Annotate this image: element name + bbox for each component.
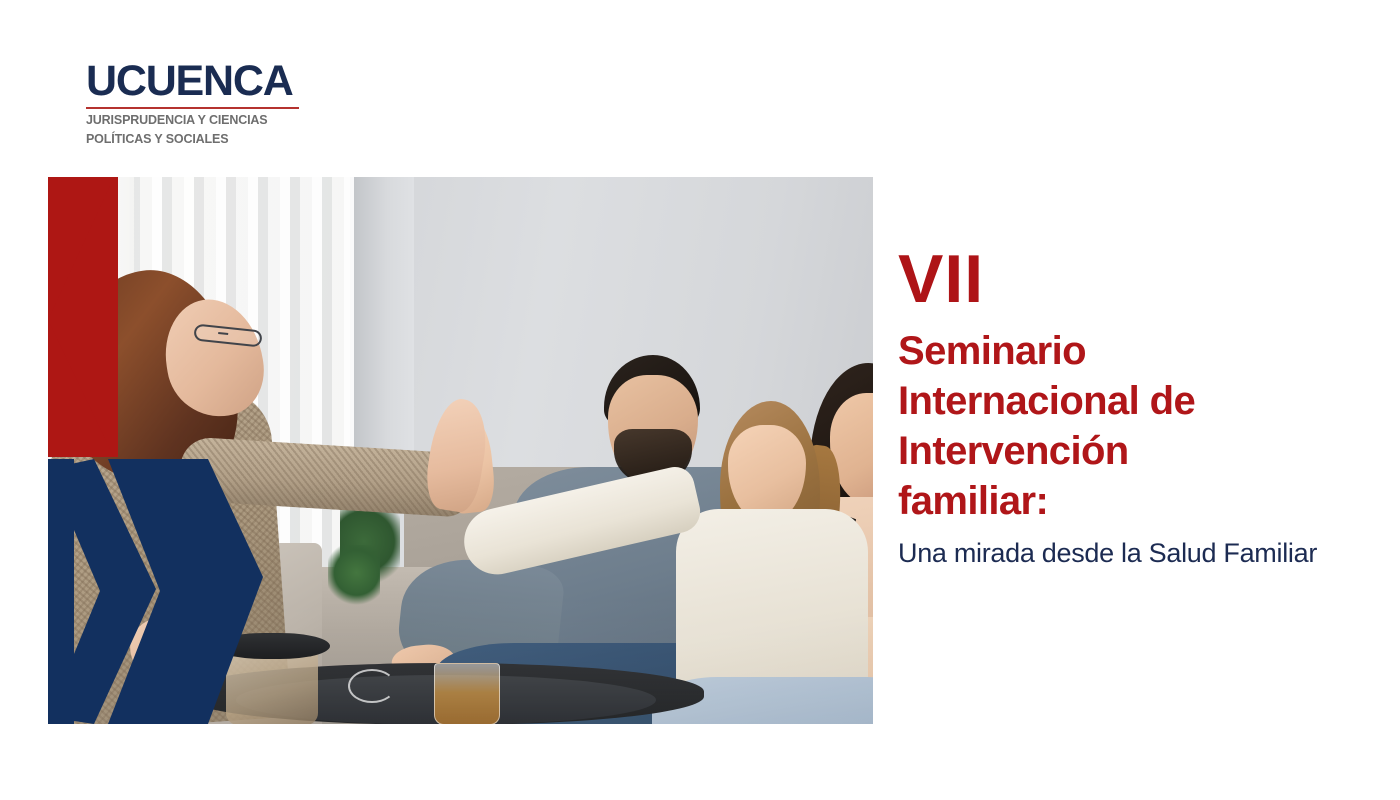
- scene-vignette: [48, 177, 873, 724]
- title-line-1: Seminario: [898, 326, 1368, 376]
- title-line-3: Intervención: [898, 426, 1368, 476]
- title-line-2: Internacional de: [898, 376, 1368, 426]
- photo-scene: [48, 177, 873, 724]
- page-subtitle: Una mirada desde la Salud Familiar: [898, 536, 1368, 570]
- page-title: Seminario Internacional de Intervención …: [898, 326, 1368, 526]
- title-line-4: familiar:: [898, 476, 1368, 526]
- ucuenca-logo[interactable]: UCUENCA JURISPRUDENCIA Y CIENCIAS POLÍTI…: [86, 58, 316, 146]
- event-title-block: VII Seminario Internacional de Intervenc…: [898, 246, 1368, 570]
- logo-faculty-line-1: JURISPRUDENCIA Y CIENCIAS: [86, 113, 316, 128]
- edition-number: VII: [898, 246, 1368, 312]
- poster-canvas: UCUENCA JURISPRUDENCIA Y CIENCIAS POLÍTI…: [0, 0, 1400, 800]
- logo-divider-rule: [86, 107, 299, 109]
- event-photo: [48, 177, 873, 724]
- logo-faculty-line-2: POLÍTICAS Y SOCIALES: [86, 132, 316, 147]
- logo-wordmark: UCUENCA: [86, 58, 316, 104]
